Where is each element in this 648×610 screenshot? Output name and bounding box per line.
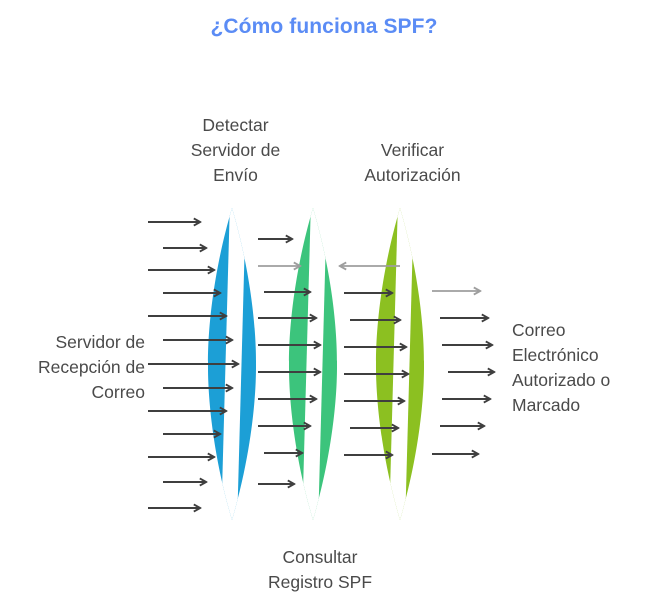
spf-flow-graphic <box>0 0 648 610</box>
stage-label-verify-authorization: Verificar Autorización <box>325 138 500 188</box>
output-label-authorized-or-flagged-email: Correo Electrónico Autorizado o Marcado <box>512 318 648 418</box>
input-label-mail-receiving-server: Servidor de Recepción de Correo <box>0 330 145 405</box>
stage-label-detect-sending-server: Detectar Servidor de Envío <box>148 113 323 188</box>
diagram-canvas: ¿Cómo funciona SPF? Detectar Servidor de… <box>0 0 648 610</box>
stage-shape-query-spf-record <box>289 200 337 528</box>
stage-label-query-spf-record: Consultar Registro SPF <box>222 545 418 595</box>
stage-shape-verify-authorization <box>376 200 424 528</box>
stage-shapes-group <box>208 200 424 528</box>
